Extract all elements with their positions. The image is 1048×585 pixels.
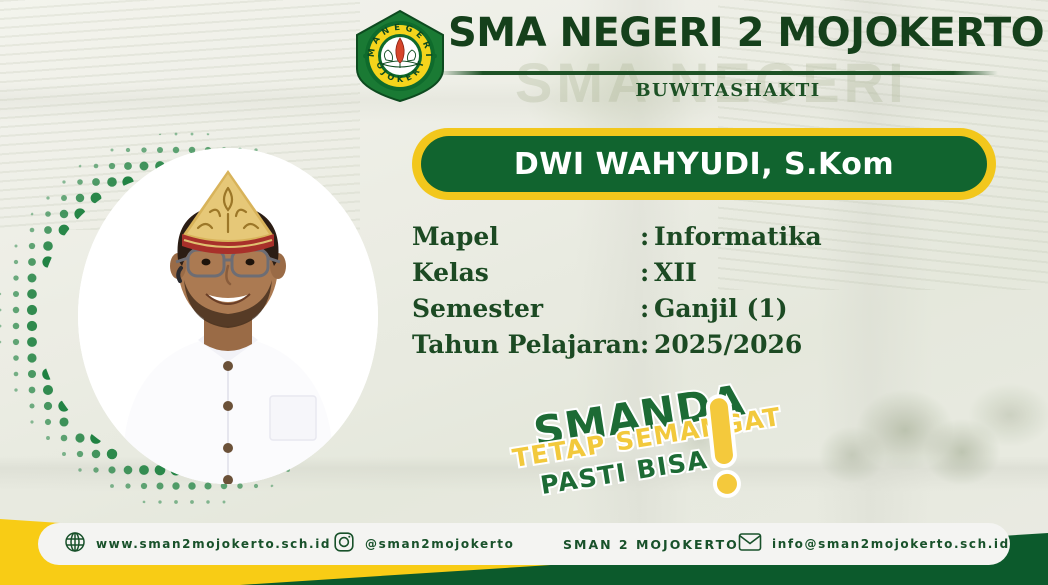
- footer-school-name: SMAN 2 MOJOKERTO: [563, 537, 739, 552]
- info-value: Ganjil (1): [654, 294, 882, 323]
- info-row-tahun-pelajaran: Tahun Pelajaran : 2025/2026: [412, 330, 882, 359]
- smanda-slogan: SMANDA TETAP SEMANGAT PASTI BISA: [505, 392, 755, 507]
- info-separator: :: [640, 222, 654, 251]
- footer-email[interactable]: info@sman2mojokerto.sch.id: [738, 532, 1010, 557]
- class-info-block: Mapel : Informatika Kelas : XII Semester…: [412, 222, 882, 366]
- school-crest-icon: S M A N E G E R I 2 M O J O K E R T O: [352, 8, 448, 104]
- globe-icon: [64, 531, 86, 558]
- info-separator: :: [640, 294, 654, 323]
- info-row-kelas: Kelas : XII: [412, 258, 882, 287]
- teacher-name: DWI WAHYUDI, S.Kom: [514, 147, 894, 182]
- teacher-name-badge: DWI WAHYUDI, S.Kom: [412, 128, 996, 200]
- avatar: [78, 148, 378, 484]
- info-row-semester: Semester : Ganjil (1): [412, 294, 882, 323]
- footer-instagram-text: @sman2mojokerto: [365, 537, 514, 551]
- envelope-icon: [738, 532, 762, 557]
- info-value: Informatika: [654, 222, 882, 251]
- teacher-profile-card: SMA NEGERI S M A N E G E R I 2 M: [0, 0, 1048, 585]
- info-label: Kelas: [412, 258, 640, 287]
- footer-school-name-text: SMAN 2 MOJOKERTO: [563, 537, 739, 552]
- footer-contact-bar: www.sman2mojokerto.sch.id @sman2mojokert…: [38, 523, 1010, 565]
- title-divider: [438, 71, 998, 75]
- school-motto: BUWITASHAKTI: [448, 80, 1008, 101]
- teacher-name-badge-inner: DWI WAHYUDI, S.Kom: [421, 136, 987, 192]
- footer-website-text: www.sman2mojokerto.sch.id: [96, 537, 331, 551]
- exclamation-mark-icon: [703, 394, 745, 499]
- footer-instagram[interactable]: @sman2mojokerto: [333, 531, 514, 558]
- info-label: Mapel: [412, 222, 640, 251]
- card-footer: www.sman2mojokerto.sch.id @sman2mojokert…: [0, 505, 1048, 585]
- footer-website[interactable]: www.sman2mojokerto.sch.id: [64, 531, 331, 558]
- info-separator: :: [640, 330, 654, 359]
- info-label: Semester: [412, 294, 640, 323]
- footer-email-text: info@sman2mojokerto.sch.id: [772, 537, 1010, 551]
- info-label: Tahun Pelajaran: [412, 330, 640, 359]
- info-value: XII: [654, 258, 882, 287]
- info-row-mapel: Mapel : Informatika: [412, 222, 882, 251]
- page-title: SMA NEGERI 2 MOJOKERTO: [448, 12, 1008, 54]
- instagram-icon: [333, 531, 355, 558]
- info-value: 2025/2026: [654, 330, 882, 359]
- card-header: S M A N E G E R I 2 M O J O K E R T O SM…: [0, 0, 1048, 112]
- info-separator: :: [640, 258, 654, 287]
